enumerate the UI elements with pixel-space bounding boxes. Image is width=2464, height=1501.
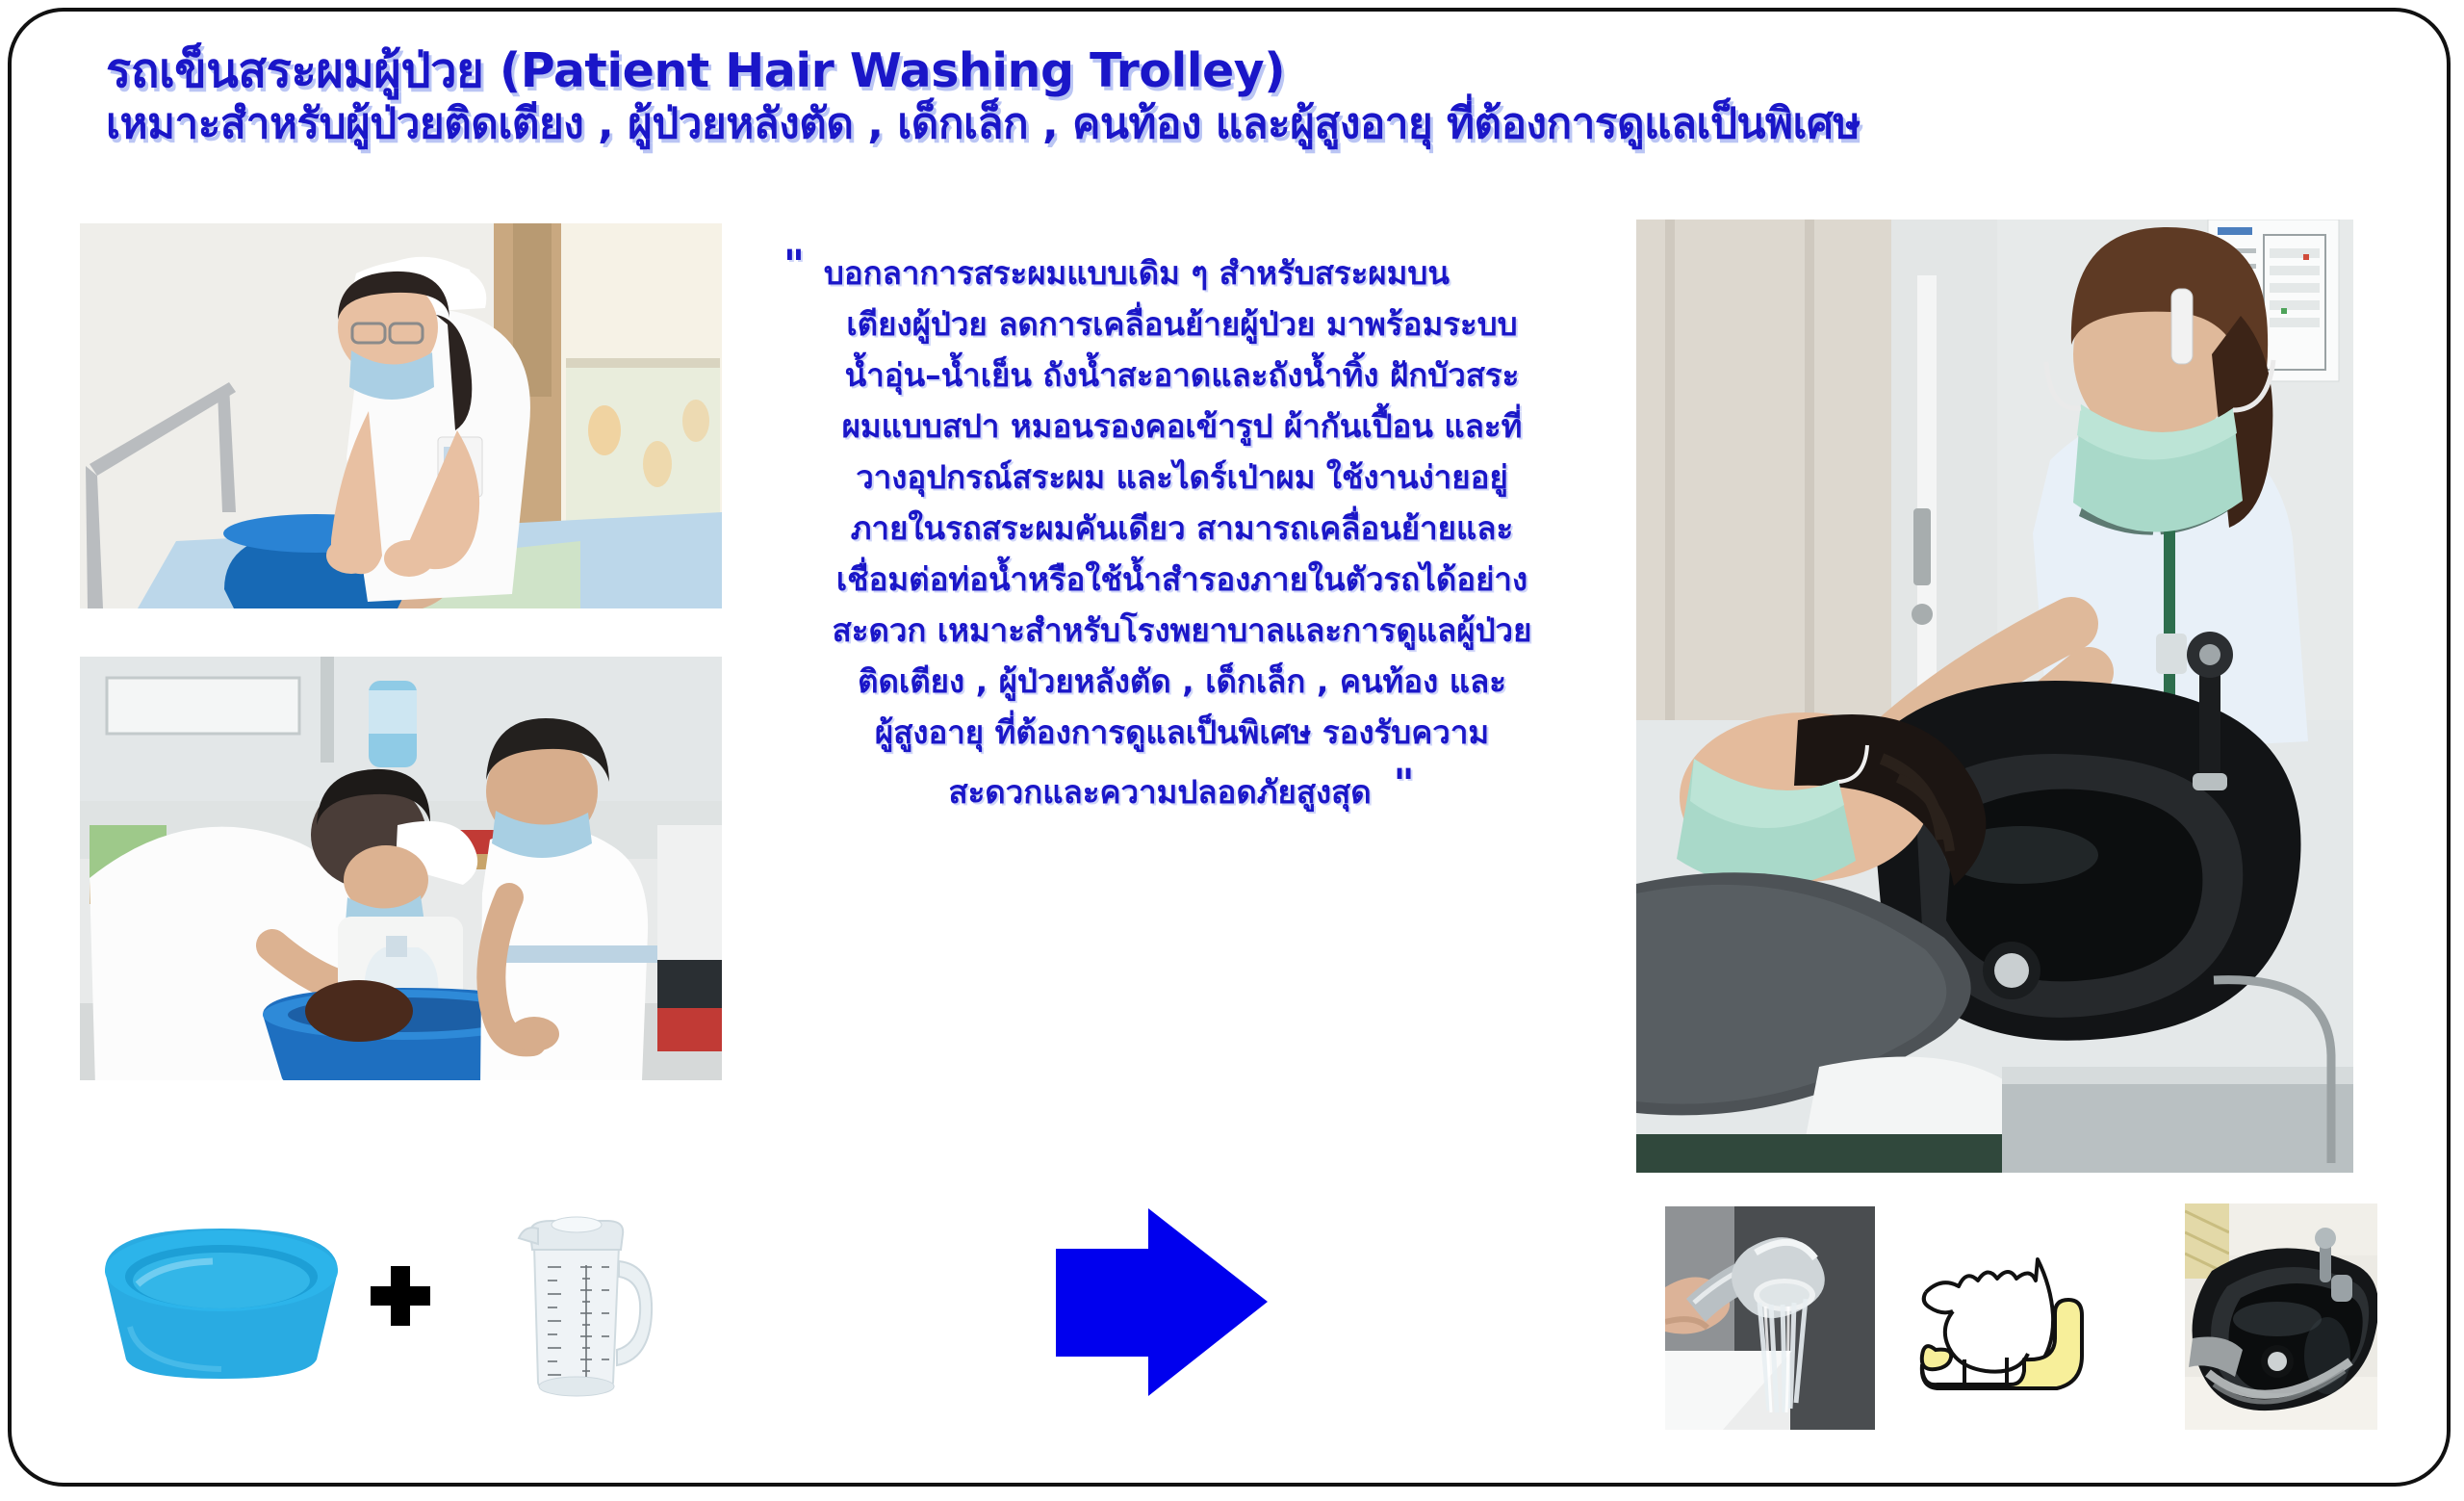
quote-open-mark: " xyxy=(783,241,802,288)
photo-two-nurses-washing-patient xyxy=(80,657,722,1080)
measuring-jug-illustration xyxy=(505,1211,664,1404)
photo-nurse-washing-bedridden-patient-image xyxy=(80,223,722,608)
right-arrow-indicator xyxy=(1056,1208,1268,1396)
neck-rest-head-diagram-image xyxy=(1911,1223,2127,1415)
page-subtitle: เหมาะสำหรับผู้ป่วยติดเตียง , ผู้ป่วยหลัง… xyxy=(106,98,2348,150)
photo-black-shampoo-basin xyxy=(2185,1203,2377,1430)
page-title: รถเข็นสระผมผู้ป่วย (Patient Hair Washing… xyxy=(106,44,2348,98)
photo-two-nurses-washing-patient-image xyxy=(80,657,722,1080)
description-quote: " บอกลาการสระผมแบบเดิม ๆ สำหรับสระผมบน เ… xyxy=(768,239,1596,817)
plus-sign-icon xyxy=(371,1266,430,1326)
photo-hair-washing-trolley-in-use xyxy=(1636,220,2353,1173)
photo-spa-shower-head-image xyxy=(1665,1206,1875,1430)
quote-line-9: ติดเตียง , ผู้ป่วยหลังตัด , เด็กเล็ก , ค… xyxy=(768,656,1596,707)
photo-hair-washing-trolley-in-use-image xyxy=(1636,220,2353,1173)
poster-canvas: รถเข็นสระผมผู้ป่วย (Patient Hair Washing… xyxy=(0,0,2464,1501)
plus-icon-shape xyxy=(371,1266,430,1326)
photo-spa-shower-head xyxy=(1665,1206,1875,1430)
right-arrow-icon xyxy=(1056,1208,1268,1396)
measuring-jug-icon xyxy=(505,1211,664,1404)
quote-line-2: เตียงผู้ป่วย ลดการเคลื่อนย้ายผู้ป่วย มาพ… xyxy=(768,298,1596,349)
poster-header: รถเข็นสระผมผู้ป่วย (Patient Hair Washing… xyxy=(106,44,2348,150)
neck-rest-head-diagram xyxy=(1911,1223,2127,1415)
quote-close-mark: " xyxy=(1394,760,1412,807)
quote-line-4: ผมแบบสปา หมอนรองคอเข้ารูป ผ้ากันเปื้อน แ… xyxy=(768,401,1596,452)
quote-line-5: วางอุปกรณ์สระผม และไดร์เป่าผม ใช้งานง่าย… xyxy=(768,452,1596,503)
quote-line-7: เชื่อมต่อท่อน้ำหรือใช้น้ำสำรองภายในตัวรถ… xyxy=(768,554,1596,605)
quote-line-8: สะดวก เหมาะสำหรับโรงพยาบาลและการดูแลผู้ป… xyxy=(768,605,1596,656)
quote-line-1: " บอกลาการสระผมแบบเดิม ๆ สำหรับสระผมบน xyxy=(768,239,1596,298)
quote-line-11: สะดวกและความปลอดภัยสูงสุด " xyxy=(768,758,1596,817)
photo-black-shampoo-basin-image xyxy=(2185,1203,2377,1430)
photo-nurse-washing-bedridden-patient xyxy=(80,223,722,608)
basin-icon xyxy=(91,1221,351,1385)
quote-line-10: ผู้สูงอายุ ที่ต้องการดูแลเป็นพิเศษ รองรั… xyxy=(768,707,1596,758)
quote-line-6: ภายในรถสระผมคันเดียว สามารถเคลื่อนย้ายแล… xyxy=(768,503,1596,554)
blue-basin-illustration xyxy=(91,1221,351,1385)
quote-line-3: น้ำอุ่น–น้ำเย็น ถังน้ำสะอาดและถังน้ำทิ้ง… xyxy=(768,349,1596,401)
